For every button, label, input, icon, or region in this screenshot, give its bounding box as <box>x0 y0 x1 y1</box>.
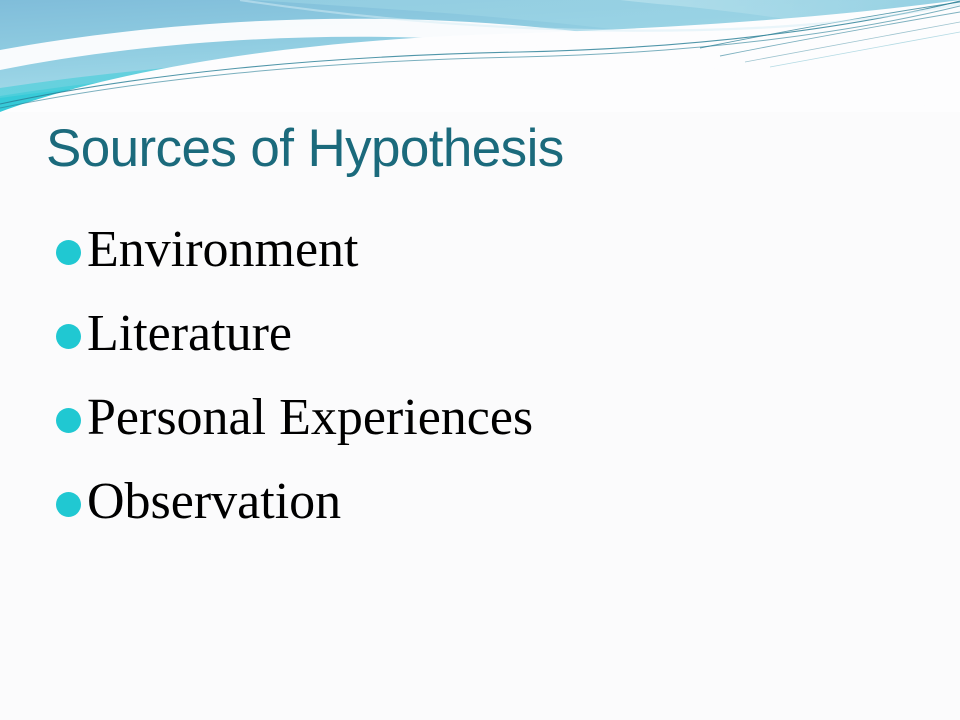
slide-title: Sources of Hypothesis <box>46 118 564 180</box>
list-item: Literature <box>56 292 916 376</box>
bullet-list: Environment Literature Personal Experien… <box>56 208 916 544</box>
list-item-label: Literature <box>87 306 292 362</box>
slide: Sources of Hypothesis Environment Litera… <box>0 0 960 720</box>
flow-theme-header-wave <box>0 0 960 112</box>
bullet-dot-icon <box>56 324 81 349</box>
bullet-dot-icon <box>56 408 81 433</box>
bullet-dot-icon <box>56 492 81 517</box>
list-item: Observation <box>56 460 916 544</box>
list-item: Environment <box>56 208 916 292</box>
list-item-label: Environment <box>87 222 359 278</box>
bullet-dot-icon <box>56 240 81 265</box>
list-item-label: Observation <box>87 474 341 530</box>
list-item-label: Personal Experiences <box>87 390 533 446</box>
list-item: Personal Experiences <box>56 376 916 460</box>
